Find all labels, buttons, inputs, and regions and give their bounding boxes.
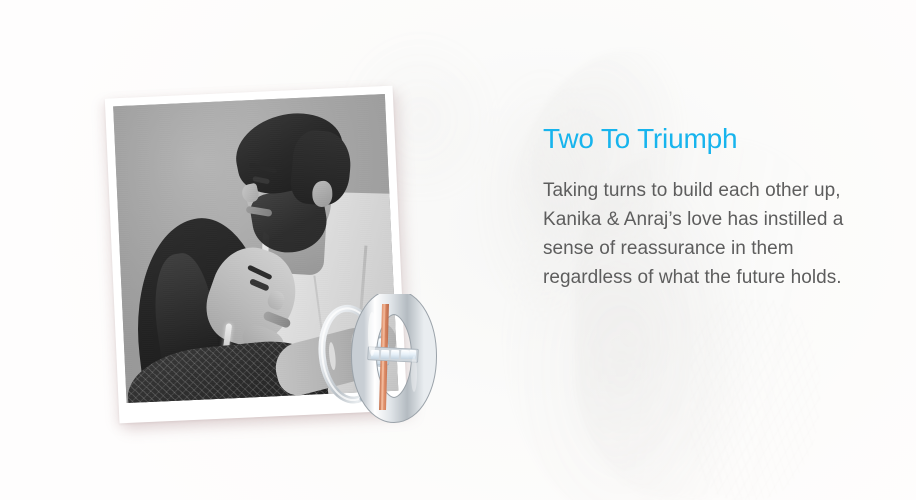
mens-inlay-ring	[364, 294, 424, 424]
mens-band-diamonds	[368, 347, 419, 363]
story-text-block: Two To Triumph Taking turns to build eac…	[543, 122, 893, 292]
watermark-lace-shape	[690, 300, 820, 500]
wedding-rings-graphic	[310, 294, 440, 424]
story-banner: Two To Triumph Taking turns to build eac…	[0, 0, 916, 500]
story-body: Taking turns to build each other up, Kan…	[543, 156, 888, 292]
page-title: Two To Triumph	[543, 122, 893, 156]
wedding-rings-icon	[310, 294, 440, 424]
